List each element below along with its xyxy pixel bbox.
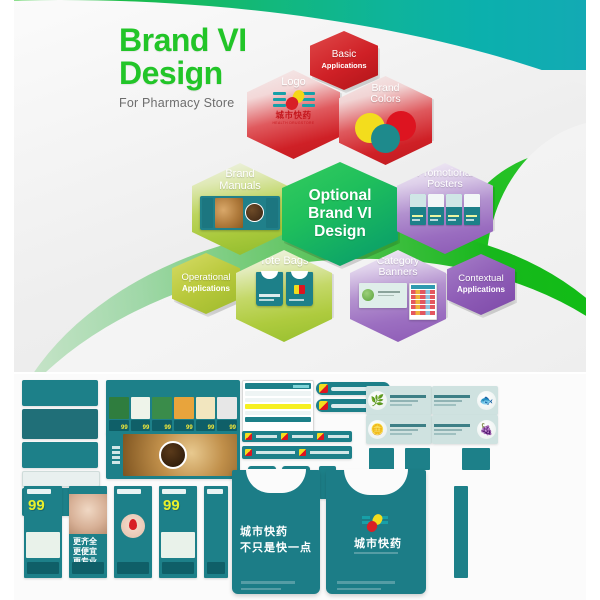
poster-price-99: 99 [28,498,45,513]
poster-thumb [446,194,462,225]
logo-badge-icon [245,433,252,440]
pill-capsule-icon [286,90,305,111]
brand-vi-design-poster: Brand VI Design For Pharmacy Store Basic… [0,0,600,600]
tote-logo-icon [294,285,305,294]
tote-handle-cutout [344,469,408,495]
product-cell [109,383,129,431]
brand-color-swatches [355,111,417,153]
hex-label-center-line1: Optional [309,187,372,205]
logo-badge-icon [299,449,306,456]
tote-slogan-line1: 城市快药 [240,526,288,540]
hex-label-center-line3: Design [314,223,366,241]
blood-drop-icon [129,519,137,530]
poster-footer [207,562,225,574]
page-subtitle: For Pharmacy Store [119,96,247,110]
shelf-label-band [242,446,352,459]
poster-product-shot [26,532,60,558]
store-shelf-thumb [409,283,437,320]
tote-footer-line [337,588,381,591]
hex-label-promo-line2: Posters [427,179,463,190]
logo-bars [273,91,315,108]
poster-logo-strip [117,489,141,494]
teal-block [462,448,490,470]
tote-bag-large-slogan: 城市快药 不只是快一点 [232,470,320,594]
food-plate-circle [159,441,187,469]
teal-edge-block [454,486,468,578]
tote-footer-line [241,581,295,584]
food-promo-banner [106,431,240,479]
shelf-label-band [242,431,352,442]
vertical-poster-blood-donation [114,486,152,578]
tote-footer-line [337,581,395,584]
swatch-teal [371,124,400,153]
tote-logo-mark [362,514,388,534]
doctor-photo [69,494,107,534]
feature-card: 🌿 [366,386,432,415]
coin-icon: 🪙 [368,420,387,439]
poster-price-99: 99 [163,498,180,513]
vertical-poster-doctor: 更齐全 更便宜 更专业 [69,486,107,578]
category-banner-thumb [359,283,407,308]
logo-badge-icon [281,433,288,440]
tote-bag-thumb [256,272,283,306]
portfolio-showcase-panel: 推 PUSH 拉 PULL 🌿 🐟 🪙 🍇 [14,374,586,600]
poster-thumb [428,194,444,225]
teal-block [369,448,394,470]
poster-title-block: Brand VI Design For Pharmacy Store [119,24,247,110]
promotional-poster-thumbnails [410,194,480,225]
logo-badge-icon [317,433,324,440]
vertical-poster-99-sale: 99 [159,486,197,578]
tote-footer-line [241,588,281,591]
logo-badge-icon [245,449,252,456]
top-panel: Brand VI Design For Pharmacy Store Basic… [14,0,586,372]
poster-headline-line2: 更便宜 [73,548,97,557]
feature-card: 🐟 [432,386,498,415]
hex-label-basic: Basic [332,50,356,61]
table-row [245,411,311,416]
grape-icon: 🍇 [477,420,496,439]
poster-headline-line1: 更齐全 [73,538,97,547]
brand-logo-mark: 城市快药 HEALTH DRUGSTORE [271,91,317,125]
poster-logo-strip [162,489,186,494]
herb-icon: 🌿 [368,391,387,410]
fish-icon: 🐟 [477,391,496,410]
feature-card: 🍇 [432,415,498,444]
product-cell [152,383,172,431]
hex-label-category-line2: Banners [378,267,417,278]
tote-logo-en-line [354,552,398,554]
poster-product-shot [161,532,195,558]
left-thumb-card [22,442,98,468]
poster-footer [72,562,104,574]
poster-logo-strip [207,489,223,494]
vertical-poster-99-vip: 99 [24,486,62,578]
left-thumb-card [22,380,98,406]
tote-logo-cn: 城市快药 [354,538,402,552]
table-row-highlighted [245,404,311,409]
poster-footer [162,562,194,574]
manual-photo-circle [245,203,264,222]
food-photo [123,434,237,476]
brand-name-en: HEALTH DRUGSTORE [272,121,314,125]
left-thumb-card [22,409,98,439]
plant-icon [362,289,374,301]
feature-card: 🪙 [366,415,432,444]
tote-slogan-line2: 不只是快一点 [240,542,312,556]
table-header [245,383,311,389]
page-title-line1: Brand VI [119,24,247,57]
table-footer [245,417,311,422]
product-cell [196,383,216,431]
hex-label-center-line2: Brand VI [308,205,372,223]
system-table-mockup [242,380,314,434]
tote-bag-thumb [286,272,313,306]
logo-badge-icon [319,401,328,410]
tote-handle-cutout [246,469,306,493]
poster-logo-strip [27,489,51,494]
teal-block [405,448,430,470]
product-cell [217,383,237,431]
table-row [245,398,311,403]
tote-bag-large-logo: 城市快药 [326,470,426,594]
poster-footer [117,562,149,574]
tote-bag-artwork [256,272,313,306]
category-banner-artwork [359,283,437,320]
hex-label-brand-colors-line2: Colors [370,94,400,105]
banner-side-text [109,434,123,476]
poster-thumb [464,194,480,225]
hex-label-operational: Operational [181,273,230,283]
poster-thumb [410,194,426,225]
brand-manual-artwork [200,196,280,230]
manual-cover-card [200,196,280,230]
hex-sublabel-operational: Applications [182,285,230,294]
table-row [245,391,311,396]
hex-sublabel-basic: Applications [321,62,366,70]
hex-label-contextual: Contextual [458,274,503,284]
page-title-line2: Design [119,57,247,90]
poster-footer [27,562,59,574]
hex-label-brand-manuals-line2: Manuals [219,181,261,193]
logo-badge-icon [319,384,328,393]
vertical-poster-partial [204,486,228,578]
left-thumb-card [22,471,100,487]
hex-sublabel-contextual: Applications [457,286,505,295]
hex-label-logo: Logo [281,77,305,89]
shelf-product-banner [106,380,240,435]
product-cell [131,383,151,431]
product-cell [174,383,194,431]
